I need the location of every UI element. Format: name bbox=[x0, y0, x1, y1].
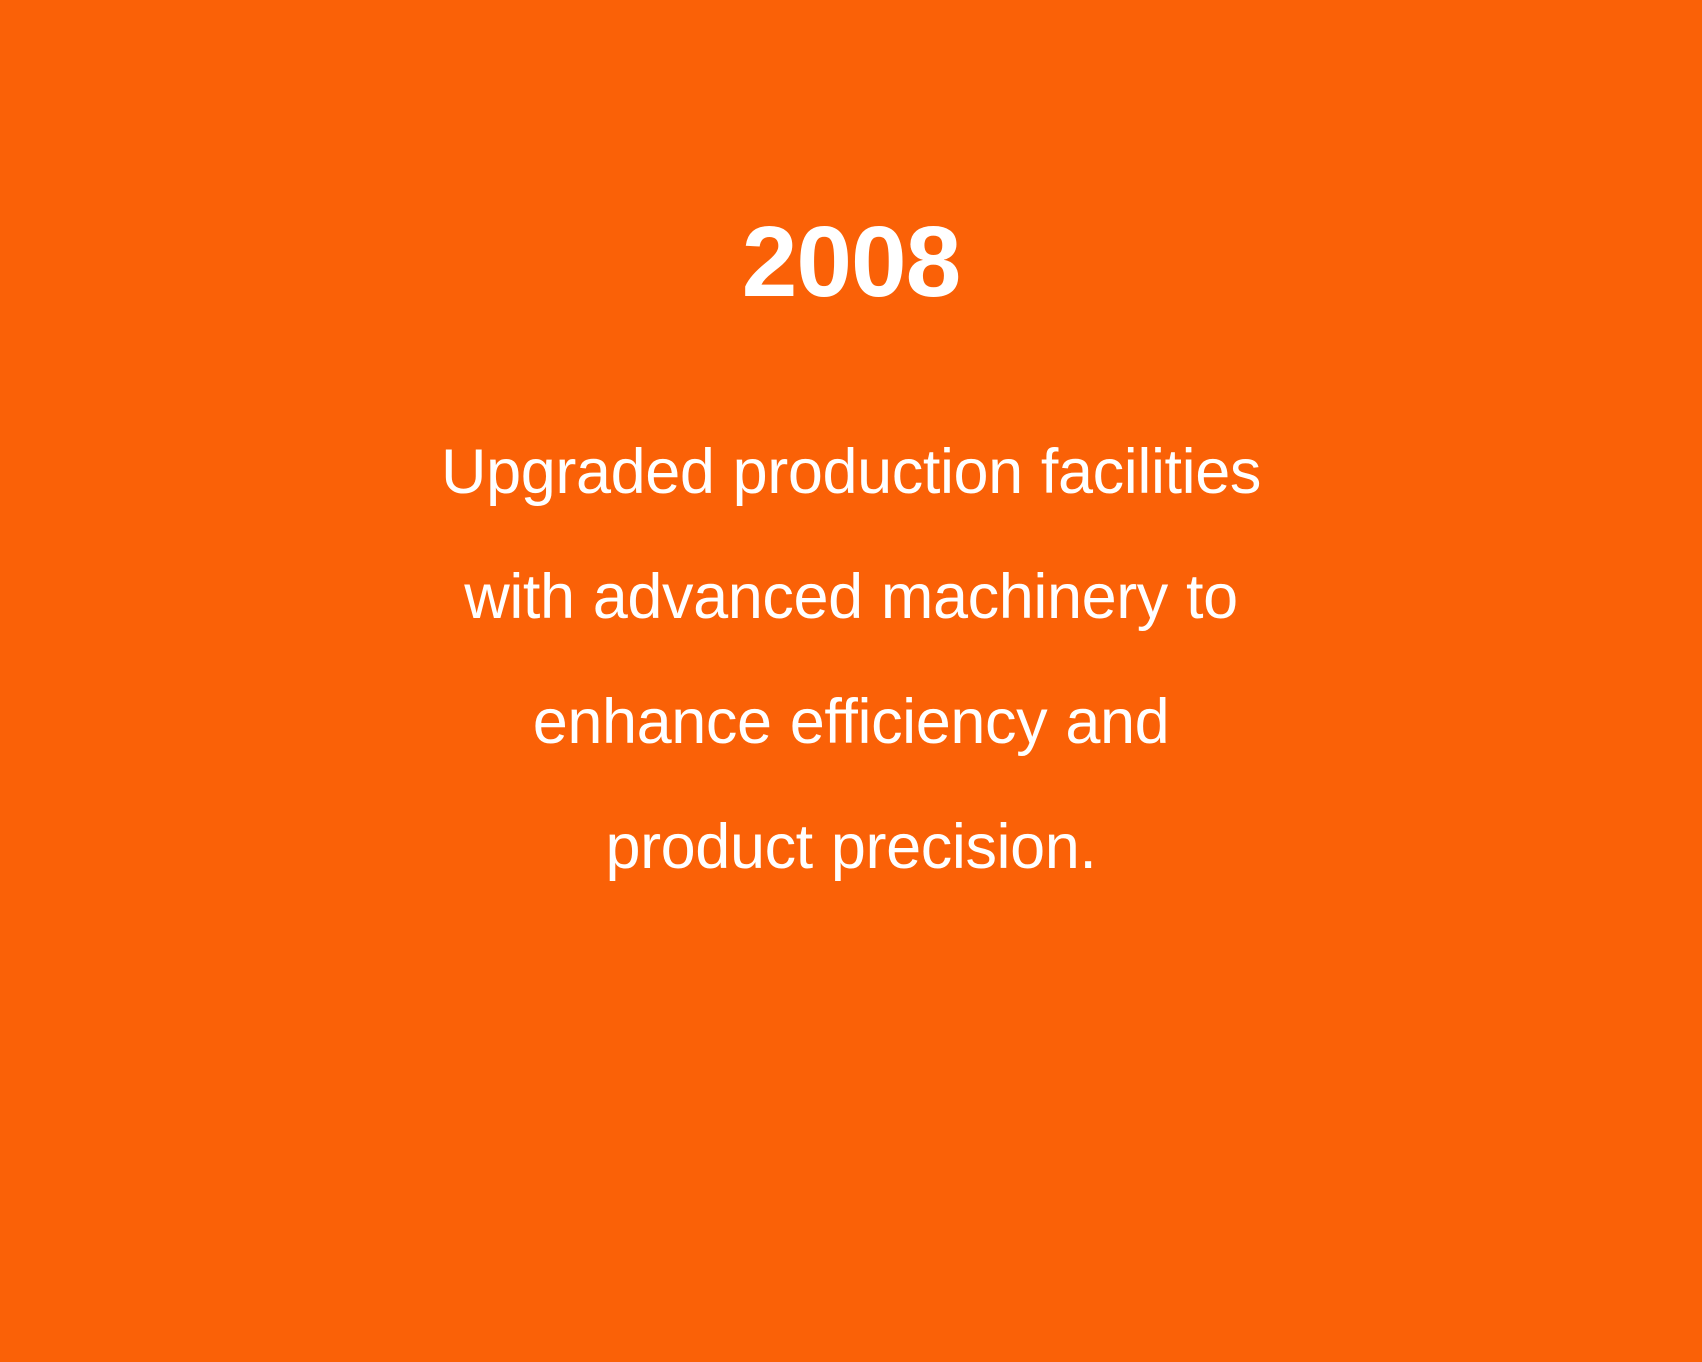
description-line-2: with advanced machinery to bbox=[181, 535, 1521, 660]
milestone-year: 2008 bbox=[742, 212, 960, 324]
description-line-4: product precision. bbox=[181, 785, 1521, 910]
description-line-1: Upgraded production facilities bbox=[181, 410, 1521, 535]
milestone-description: Upgraded production facilities with adva… bbox=[181, 410, 1521, 910]
description-line-3: enhance efficiency and bbox=[181, 660, 1521, 785]
milestone-card: 2008 Upgraded production facilities with… bbox=[0, 0, 1702, 1362]
